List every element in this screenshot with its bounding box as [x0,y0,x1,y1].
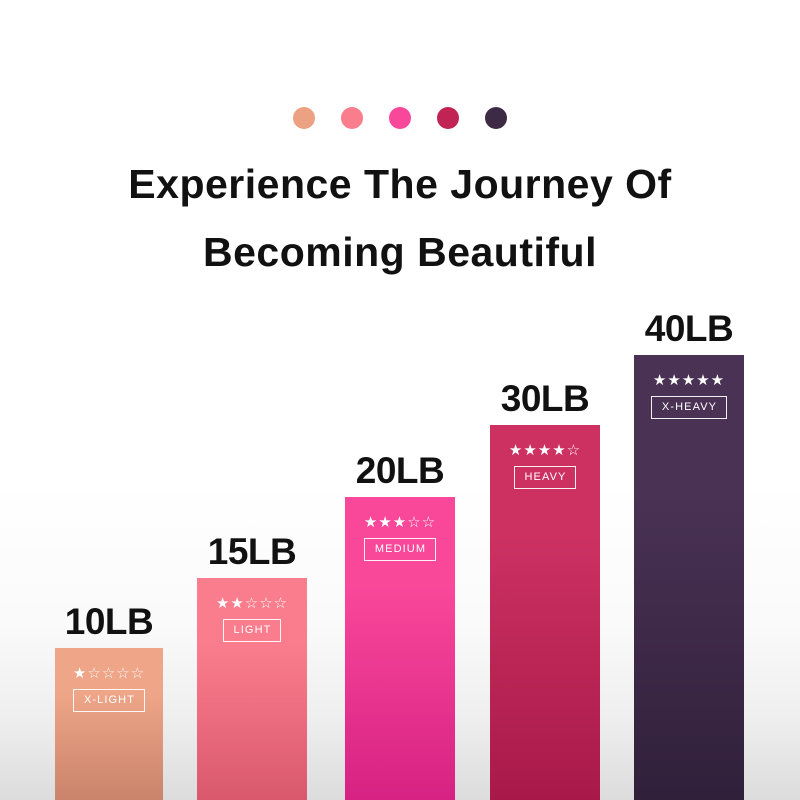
level-badge: X-LIGHT [73,689,145,712]
bar-fill [634,355,744,800]
bar-group-30lb[interactable]: 30LB★★★★☆HEAVY [490,425,600,800]
star-rating-icon: ★☆☆☆☆ [73,666,145,682]
bar-content: ★★★★★X-HEAVY [634,373,744,419]
bar-weight-label: 15LB [197,532,307,572]
bar-content: ★☆☆☆☆X-LIGHT [55,666,163,712]
bar-column[interactable]: ★☆☆☆☆X-LIGHT [55,648,163,800]
level-badge: HEAVY [514,466,577,489]
bar-group-40lb[interactable]: 40LB★★★★★X-HEAVY [634,355,744,800]
bar-weight-label: 30LB [490,379,600,419]
infographic-canvas: Experience The Journey Of Becoming Beaut… [0,0,800,800]
star-rating-icon: ★★★☆☆ [364,515,436,531]
bar-group-10lb[interactable]: 10LB★☆☆☆☆X-LIGHT [55,648,163,800]
bar-content: ★★★☆☆MEDIUM [345,515,455,561]
bar-content: ★★★★☆HEAVY [490,443,600,489]
bar-weight-label: 20LB [345,451,455,491]
level-badge: X-HEAVY [651,396,727,419]
bar-group-20lb[interactable]: 20LB★★★☆☆MEDIUM [345,497,455,800]
bar-content: ★★☆☆☆LIGHT [197,596,307,642]
bar-weight-label: 40LB [634,309,744,349]
bar-column[interactable]: ★★★★☆HEAVY [490,425,600,800]
bar-column[interactable]: ★★☆☆☆LIGHT [197,578,307,800]
bar-column[interactable]: ★★★☆☆MEDIUM [345,497,455,800]
bar-group-15lb[interactable]: 15LB★★☆☆☆LIGHT [197,578,307,800]
star-rating-icon: ★★★★★ [653,373,725,389]
resistance-band-bar-chart: 10LB★☆☆☆☆X-LIGHT15LB★★☆☆☆LIGHT20LB★★★☆☆M… [0,0,800,800]
bar-column[interactable]: ★★★★★X-HEAVY [634,355,744,800]
star-rating-icon: ★★☆☆☆ [216,596,288,612]
bar-weight-label: 10LB [55,602,163,642]
level-badge: MEDIUM [364,538,436,561]
level-badge: LIGHT [223,619,282,642]
star-rating-icon: ★★★★☆ [509,443,581,459]
